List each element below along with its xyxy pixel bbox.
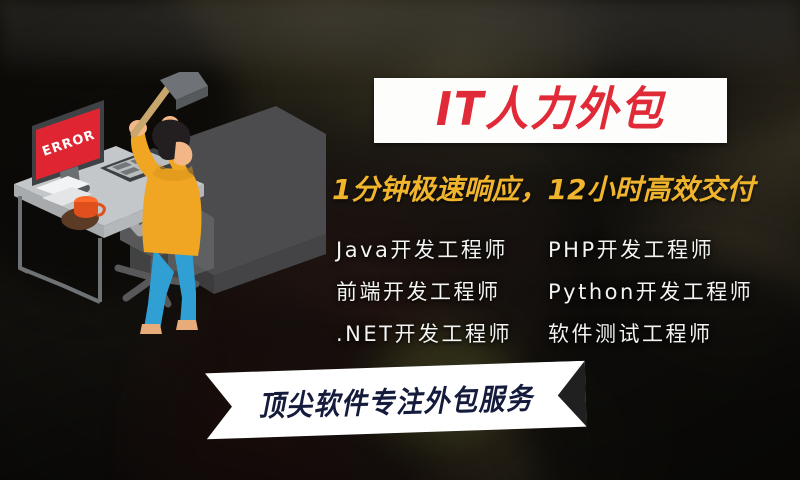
service-list: Java开发工程师 PHP开发工程师 前端开发工程师 Python开发工程师 .… xyxy=(336,228,792,354)
developer-illustration: ERROR xyxy=(8,72,328,342)
service-row: Java开发工程师 PHP开发工程师 xyxy=(336,228,792,270)
service-row: 前端开发工程师 Python开发工程师 xyxy=(336,270,792,312)
bottom-ribbon: 顶尖软件专注外包服务 xyxy=(205,361,587,452)
person-right-leg xyxy=(174,248,196,324)
page-title: IT人力外包 xyxy=(436,87,665,133)
service-item: 软件测试工程师 xyxy=(548,318,792,348)
ribbon-text: 顶尖软件专注外包服务 xyxy=(205,357,587,444)
subtitle: 1分钟极速响应，12小时高效交付 xyxy=(332,176,784,204)
service-item: Python开发工程师 xyxy=(548,276,792,306)
service-item: Java开发工程师 xyxy=(336,234,548,264)
service-item: .NET开发工程师 xyxy=(336,318,548,348)
title-banner: IT人力外包 xyxy=(374,78,727,143)
service-row: .NET开发工程师 软件测试工程师 xyxy=(336,312,792,354)
person-shirt xyxy=(142,169,201,257)
service-item: PHP开发工程师 xyxy=(548,234,792,264)
service-item: 前端开发工程师 xyxy=(336,276,548,306)
poster-root: ERROR xyxy=(0,0,800,480)
